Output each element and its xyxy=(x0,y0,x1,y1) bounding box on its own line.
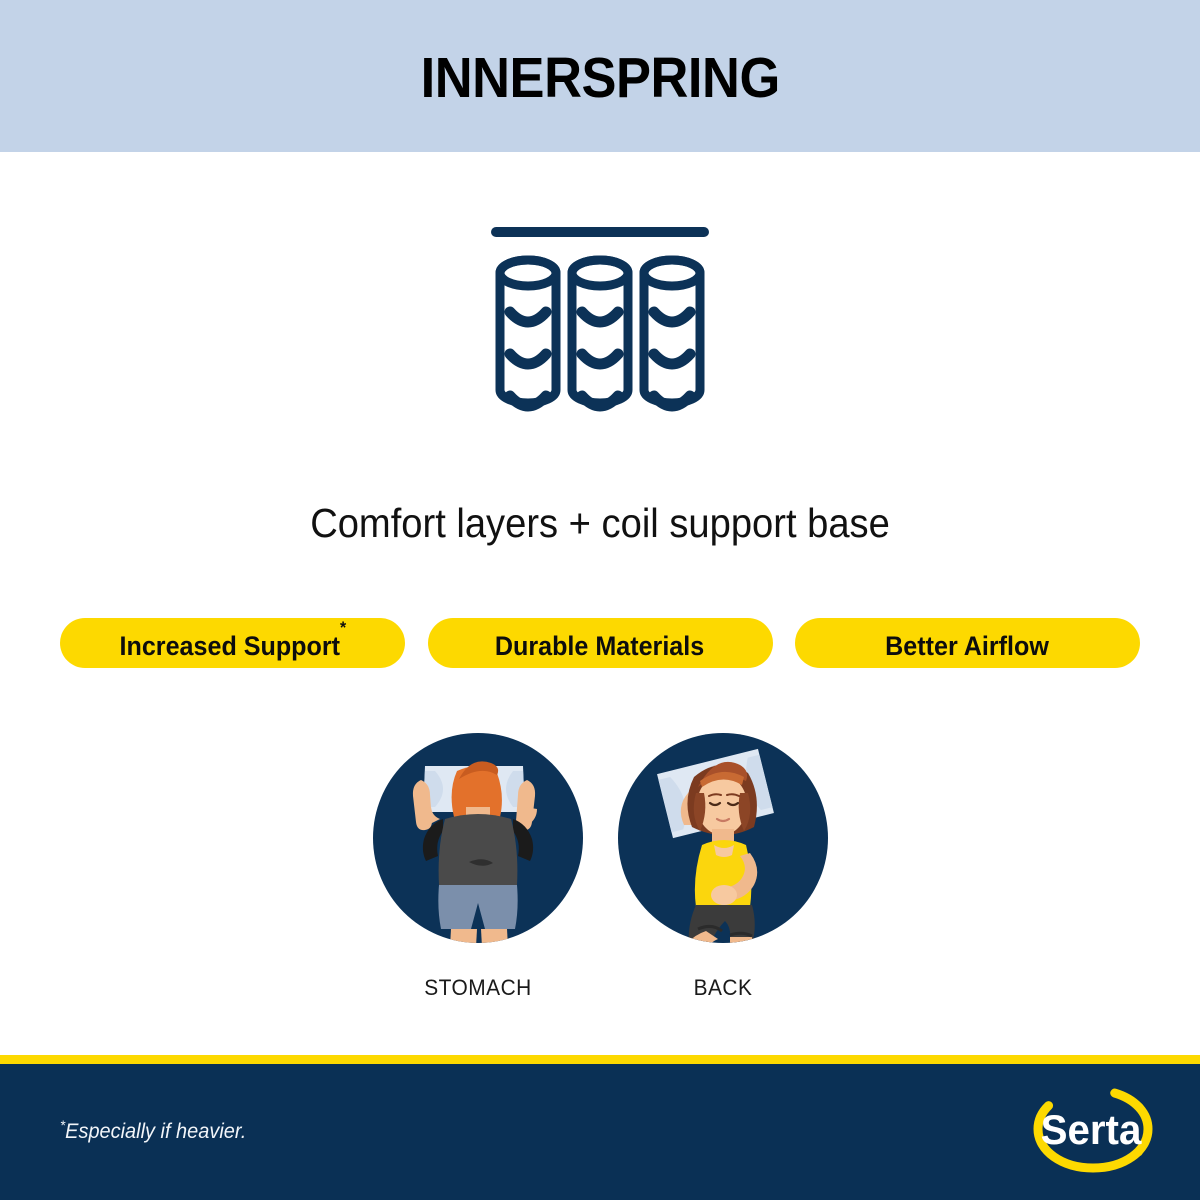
benefit-pill-label: Better Airflow xyxy=(886,626,1050,660)
stomach-sleeper-illustration xyxy=(373,733,583,943)
benefit-pill-list: Increased Support* Durable Materials Bet… xyxy=(60,618,1140,668)
serta-logo[interactable]: Serta ® xyxy=(1032,1082,1154,1182)
header-banner: INNERSPRING xyxy=(0,0,1200,152)
infographic-page: INNERSPRING xyxy=(0,0,1200,1200)
sleep-position-label-back: BACK xyxy=(623,975,823,1001)
benefit-pill-increased-support[interactable]: Increased Support* xyxy=(60,618,405,668)
coils-icon-wrapper xyxy=(0,225,1200,441)
benefit-pill-durable-materials[interactable]: Durable Materials xyxy=(428,618,773,668)
stomach-sleeper-circle xyxy=(373,733,583,943)
coils-icon xyxy=(490,225,710,441)
benefit-pill-better-airflow[interactable]: Better Airflow xyxy=(795,618,1140,668)
subtitle: Comfort layers + coil support base xyxy=(42,497,1158,549)
footnote-text: *Especially if heavier. xyxy=(60,1117,246,1144)
benefit-pill-label: Durable Materials xyxy=(495,626,704,660)
sleep-position-back: BACK xyxy=(618,733,828,1001)
serta-logo-mark: Serta ® xyxy=(1032,1082,1154,1182)
footnote-marker: * xyxy=(340,618,346,637)
sleep-position-stomach: STOMACH xyxy=(373,733,583,1001)
benefit-pill-label: Increased Support* xyxy=(119,626,346,660)
page-title: INNERSPRING xyxy=(420,50,779,107)
sleep-position-list: STOMACH xyxy=(0,733,1200,1001)
serta-wordmark: Serta xyxy=(1041,1106,1143,1153)
footer-accent-stripe xyxy=(0,1055,1200,1064)
back-sleeper-illustration xyxy=(618,733,828,943)
serta-trademark: ® xyxy=(1136,1148,1143,1158)
sleep-position-label-stomach: STOMACH xyxy=(378,975,578,1001)
back-sleeper-circle xyxy=(618,733,828,943)
